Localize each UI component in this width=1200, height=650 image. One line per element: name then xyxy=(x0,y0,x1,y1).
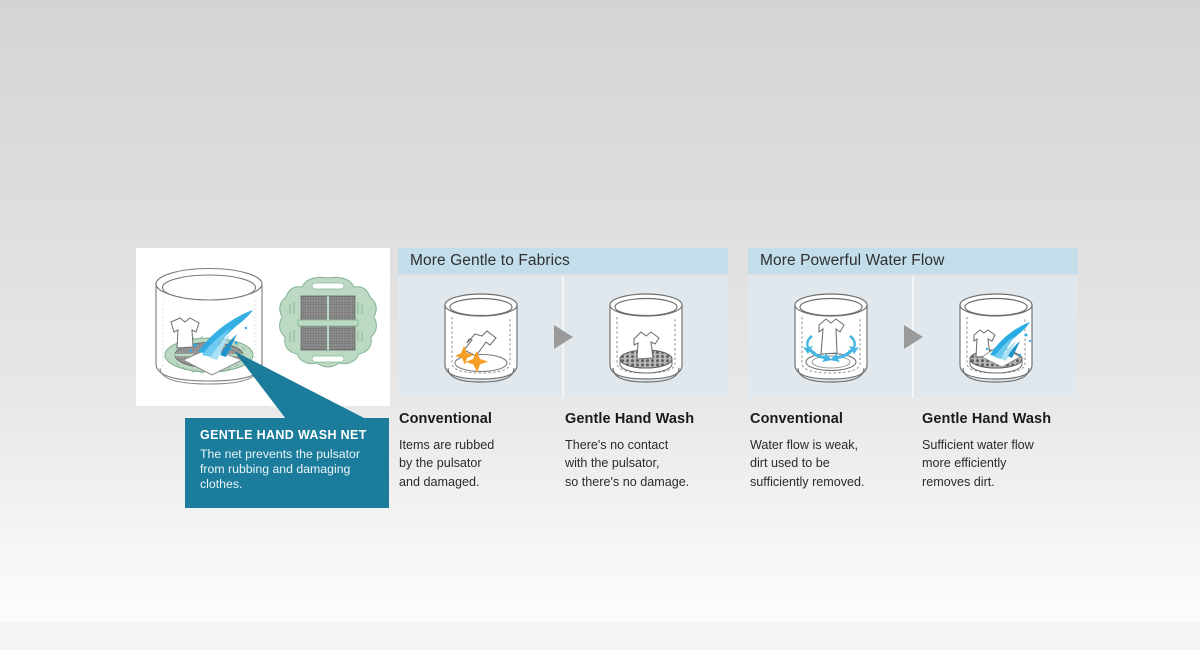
caption-line: with the pulsator, xyxy=(565,454,735,472)
caption-line: Water flow is weak, xyxy=(750,436,920,454)
caption-conventional-fabrics: Conventional Items are rubbed by the pul… xyxy=(399,411,569,491)
panel-half-gentle-fabrics xyxy=(563,276,728,398)
panel-half-gentle-waterflow xyxy=(913,276,1078,398)
drum-gentle-net-icon xyxy=(600,283,692,391)
infographic-stage: GENTLE HAND WASH NET The net prevents th… xyxy=(0,0,1200,650)
panel-body-fabrics xyxy=(398,276,728,398)
panel-more-gentle-to-fabrics: More Gentle to Fabrics xyxy=(398,248,728,398)
panel-more-powerful-water-flow: More Powerful Water Flow xyxy=(748,248,1078,398)
panel-half-conventional-waterflow xyxy=(748,276,913,398)
caption-line: removes dirt. xyxy=(922,473,1092,491)
caption-line: by the pulsator xyxy=(399,454,569,472)
caption-line: sufficiently removed. xyxy=(750,473,920,491)
caption-title: Gentle Hand Wash xyxy=(922,411,1092,427)
caption-conventional-waterflow: Conventional Water flow is weak, dirt us… xyxy=(750,411,920,491)
caption-title: Conventional xyxy=(399,411,569,427)
caption-line: more efficiently xyxy=(922,454,1092,472)
panel-header-fabrics: More Gentle to Fabrics xyxy=(398,248,728,274)
caption-gentle-waterflow: Gentle Hand Wash Sufficient water flow m… xyxy=(922,411,1092,491)
gentle-hand-wash-net-callout: GENTLE HAND WASH NET The net prevents th… xyxy=(185,418,389,508)
caption-line: Sufficient water flow xyxy=(922,436,1092,454)
gentle-hand-wash-net-illustration xyxy=(136,248,390,406)
caption-gentle-fabrics: Gentle Hand Wash There's no contact with… xyxy=(565,411,735,491)
drum-conventional-rubbing-icon xyxy=(435,283,527,391)
caption-line: and damaged. xyxy=(399,473,569,491)
caption-line: so there's no damage. xyxy=(565,473,735,491)
caption-line: There's no contact xyxy=(565,436,735,454)
panel-header-waterflow: More Powerful Water Flow xyxy=(748,248,1078,274)
hero-illustration-card xyxy=(136,248,390,406)
caption-line: dirt used to be xyxy=(750,454,920,472)
caption-title: Conventional xyxy=(750,411,920,427)
panel-header-label: More Powerful Water Flow xyxy=(760,252,944,270)
panel-half-conventional-fabrics xyxy=(398,276,563,398)
drum-strong-waterflow-icon xyxy=(950,283,1042,391)
callout-title: GENTLE HAND WASH NET xyxy=(200,428,376,442)
caption-title: Gentle Hand Wash xyxy=(565,411,735,427)
detached-net-part xyxy=(280,277,377,367)
panel-body-waterflow xyxy=(748,276,1078,398)
caption-line: Items are rubbed xyxy=(399,436,569,454)
drum-weak-waterflow-icon xyxy=(785,283,877,391)
panel-header-label: More Gentle to Fabrics xyxy=(410,252,570,270)
callout-body: The net prevents the pulsator from rubbi… xyxy=(200,447,376,493)
